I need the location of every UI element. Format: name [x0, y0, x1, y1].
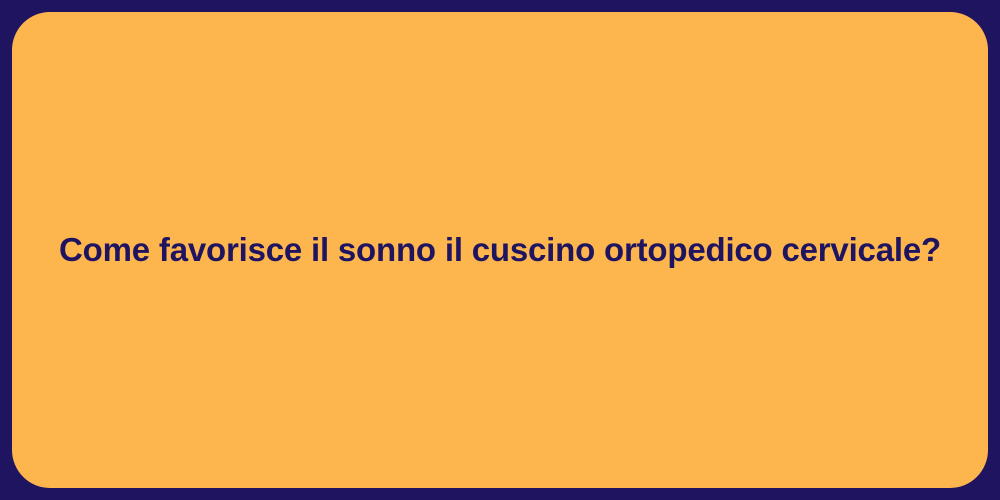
- headline-question: Come favorisce il sonno il cuscino ortop…: [12, 229, 988, 271]
- orange-content-card: Come favorisce il sonno il cuscino ortop…: [12, 12, 988, 488]
- poster-canvas: Come favorisce il sonno il cuscino ortop…: [0, 0, 1000, 500]
